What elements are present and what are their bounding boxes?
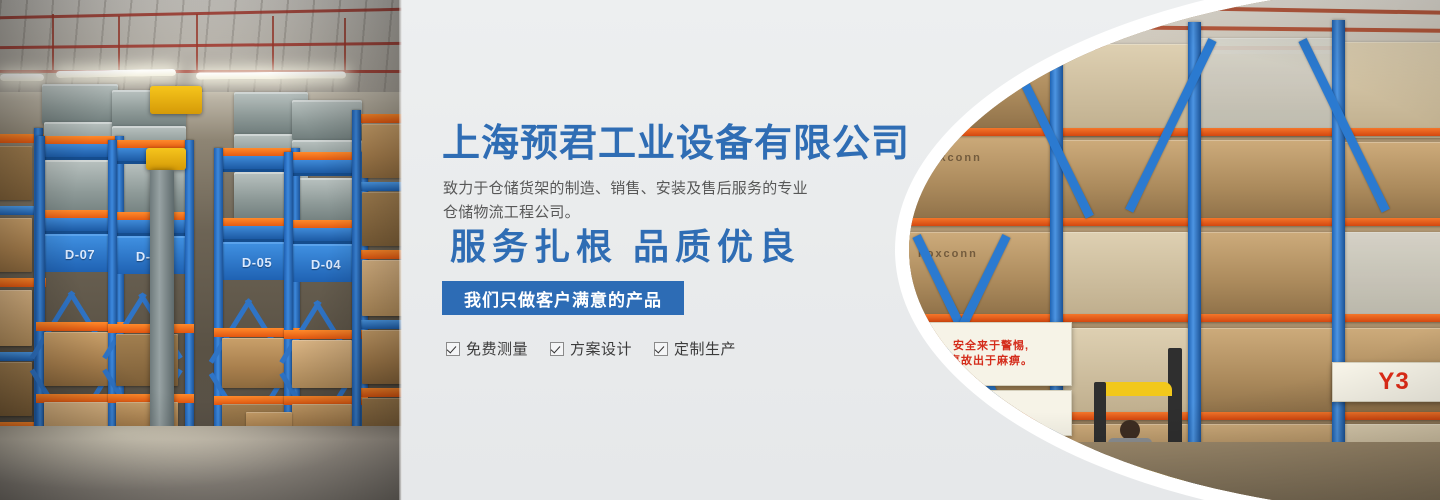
left-photo-floor xyxy=(0,426,402,500)
feature-label: 免费测量 xyxy=(466,338,528,359)
banner-content: 上海预君工业设备有限公司 致力于仓储货架的制造、销售、安装及售后服务的专业 仓储… xyxy=(442,0,912,500)
roof-hanger xyxy=(118,16,120,72)
subtitle-line-2: 仓储物流工程公司。 xyxy=(443,204,580,221)
safety-sign-line-2: 事故出于麻痹。 xyxy=(949,354,1033,369)
pallet-tote xyxy=(42,84,118,124)
cta-button[interactable]: 我们只做客户满意的产品 xyxy=(442,281,684,315)
aisle-sign-y3: Y3 xyxy=(910,390,1072,436)
aisle-sign-right-label: Y3 xyxy=(1378,369,1409,395)
feature-item-custom-production[interactable]: 定制生产 xyxy=(654,338,736,359)
feature-item-free-measure[interactable]: 免费测量 xyxy=(446,338,528,359)
safety-sign: 安全来于警惕, 事故出于麻痹。 xyxy=(910,322,1072,386)
company-title: 上海预君工业设备有限公司 xyxy=(442,125,912,163)
feature-list: 免费测量 方案设计 定制生产 xyxy=(446,338,736,359)
aisle-sign-y3-right: Y3 xyxy=(1332,362,1440,402)
feature-label: 定制生产 xyxy=(674,338,736,359)
hero-banner: D-07 D-06 xyxy=(0,0,1440,500)
rack-right-wall xyxy=(352,110,402,458)
check-box-icon xyxy=(446,342,460,356)
feature-label: 方案设计 xyxy=(570,338,632,359)
roof-hanger xyxy=(52,14,54,70)
feature-item-solution-design[interactable]: 方案设计 xyxy=(550,338,632,359)
check-box-icon xyxy=(654,342,668,356)
ceiling-light xyxy=(196,71,346,79)
stacker-crane-head xyxy=(150,86,202,114)
stacker-crane-head xyxy=(146,148,186,170)
ceiling-light xyxy=(0,74,44,81)
right-warehouse-photo: Foxconn Foxconn Foxconn xyxy=(909,0,1440,500)
left-photo-edge xyxy=(399,0,402,500)
safety-sign-line-1: 安全来于警惕, xyxy=(953,339,1029,354)
check-box-icon xyxy=(550,342,564,356)
roof-hanger xyxy=(196,14,198,72)
forklift-driver-head xyxy=(1120,420,1140,440)
company-slogan: 服务扎根 品质优良 xyxy=(450,228,920,268)
roof-hanger xyxy=(344,18,346,72)
roof-hanger xyxy=(272,16,274,72)
left-warehouse-photo: D-07 D-06 xyxy=(0,0,402,500)
right-photo-wrap: Foxconn Foxconn Foxconn xyxy=(895,0,1440,500)
right-photo-scene: Foxconn Foxconn Foxconn xyxy=(909,0,1440,500)
aisle-sign-label: Y3 xyxy=(970,397,1012,429)
subtitle-line-1: 致力于仓储货架的制造、销售、安装及售后服务的专业 xyxy=(443,180,808,197)
stacker-crane-mast xyxy=(150,170,174,430)
company-subtitle: 致力于仓储货架的制造、销售、安装及售后服务的专业 仓储物流工程公司。 xyxy=(443,177,855,225)
right-photo-floor xyxy=(909,442,1440,500)
